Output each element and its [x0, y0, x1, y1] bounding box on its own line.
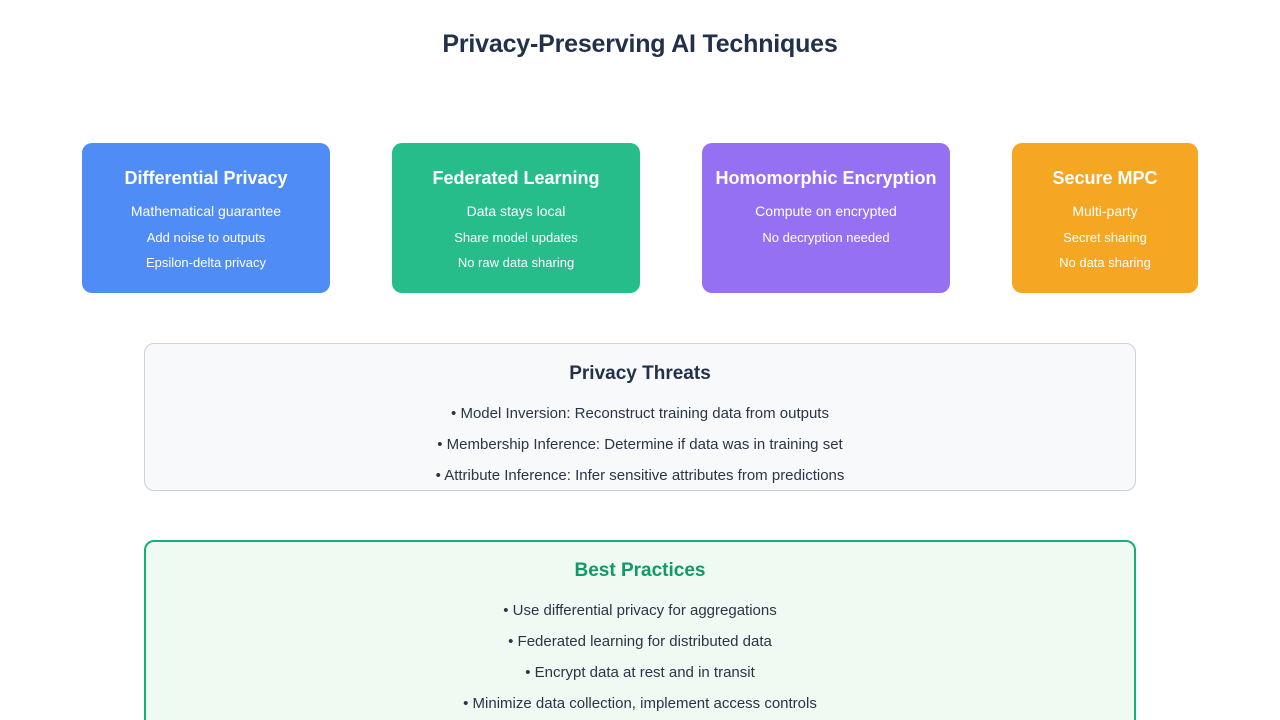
- technique-card-point: Compute on encrypted: [702, 199, 950, 225]
- best-practice-line: • Encrypt data at rest and in transit: [146, 657, 1134, 688]
- card-differential-privacy[interactable]: Differential PrivacyMathematical guarant…: [82, 143, 330, 293]
- technique-card-point: No raw data sharing: [392, 250, 640, 276]
- card-federated-learning[interactable]: Federated LearningData stays localShare …: [392, 143, 640, 293]
- technique-card-title: Differential Privacy: [82, 166, 330, 191]
- technique-card-point: Share model updates: [392, 225, 640, 251]
- best-practices-list: • Use differential privacy for aggregati…: [146, 595, 1134, 719]
- best-practice-line: • Federated learning for distributed dat…: [146, 626, 1134, 657]
- technique-card-point: Mathematical guarantee: [82, 199, 330, 225]
- privacy-threat-line: • Membership Inference: Determine if dat…: [145, 429, 1135, 460]
- technique-card-point: Epsilon-delta privacy: [82, 250, 330, 276]
- best-practice-line: • Use differential privacy for aggregati…: [146, 595, 1134, 626]
- technique-card-point: Multi-party: [1012, 199, 1198, 225]
- technique-card-point: No decryption needed: [702, 225, 950, 251]
- technique-card-point: Add noise to outputs: [82, 225, 330, 251]
- best-practices-panel: Best Practices • Use differential privac…: [144, 540, 1136, 720]
- technique-card-title: Homomorphic Encryption: [702, 166, 950, 191]
- technique-card-title: Secure MPC: [1012, 166, 1198, 191]
- slide-canvas: Privacy-Preserving AI Techniques Differe…: [0, 0, 1280, 720]
- technique-card-point: Data stays local: [392, 199, 640, 225]
- privacy-threats-panel: Privacy Threats • Model Inversion: Recon…: [144, 343, 1136, 491]
- best-practices-title: Best Practices: [146, 559, 1134, 583]
- card-homomorphic-encryption[interactable]: Homomorphic EncryptionCompute on encrypt…: [702, 143, 950, 293]
- technique-card-points: Data stays localShare model updatesNo ra…: [392, 199, 640, 276]
- privacy-threats-title: Privacy Threats: [145, 362, 1135, 386]
- technique-card-points: Mathematical guaranteeAdd noise to outpu…: [82, 199, 330, 276]
- technique-card-points: Compute on encryptedNo decryption needed: [702, 199, 950, 250]
- privacy-threats-list: • Model Inversion: Reconstruct training …: [145, 398, 1135, 491]
- page-title: Privacy-Preserving AI Techniques: [0, 30, 1280, 59]
- technique-card-point: No data sharing: [1012, 250, 1198, 276]
- technique-card-points: Multi-partySecret sharingNo data sharing: [1012, 199, 1198, 276]
- technique-cards-row: Differential PrivacyMathematical guarant…: [82, 143, 1198, 293]
- technique-card-point: Secret sharing: [1012, 225, 1198, 251]
- best-practice-line: • Minimize data collection, implement ac…: [146, 688, 1134, 719]
- privacy-threat-line: • Model Inversion: Reconstruct training …: [145, 398, 1135, 429]
- card-secure-mpc[interactable]: Secure MPCMulti-partySecret sharingNo da…: [1012, 143, 1198, 293]
- privacy-threat-line: • Attribute Inference: Infer sensitive a…: [145, 460, 1135, 491]
- technique-card-title: Federated Learning: [392, 166, 640, 191]
